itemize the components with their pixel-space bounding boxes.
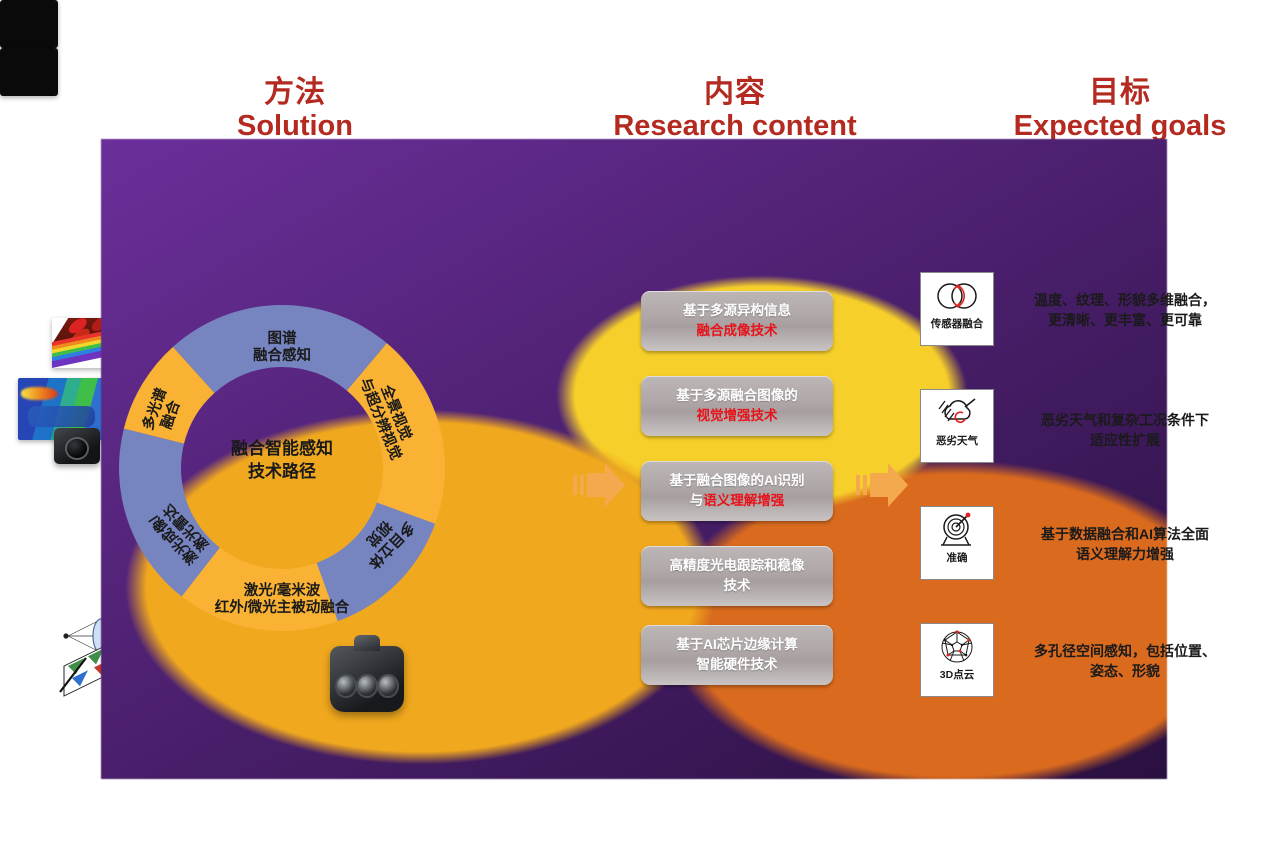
diagram-canvas: 方法 Solution 内容 Research content 目标 Expec… bbox=[0, 0, 1268, 866]
donut-center-title: 融合智能感知 技术路径 bbox=[172, 438, 392, 484]
goal-text-accuracy: 基于数据融合和AI算法全面 语义理解力增强 bbox=[1000, 524, 1250, 565]
goal-text-severe-weather: 恶劣天气和复杂工况条件下 适应性扩展 bbox=[1000, 410, 1250, 451]
research-box-ai-chip-edge-computing[interactable]: 基于AI芯片边缘计算 智能硬件技术 bbox=[641, 625, 833, 685]
gimbal-lens-2 bbox=[358, 676, 376, 696]
arrow-content-to-goals bbox=[854, 459, 910, 511]
goal-text-sensor-fusion: 温度、纹理、形貌多维融合， 更清晰、更丰富、更可靠 bbox=[1000, 290, 1250, 331]
column-header-solution: 方法 Solution bbox=[150, 76, 440, 142]
goal-text-point-cloud-3d: 多孔径空间感知，包括位置、 姿态、形貌 bbox=[1000, 641, 1250, 682]
solution-donut-chart: 图谱 融合感知 全景视觉 与超分辨视觉 多目立体 视觉 激光/毫米波 红外/微光… bbox=[117, 303, 447, 633]
column-header-content-en: Research content bbox=[580, 110, 890, 142]
donut-label-spectral-fusion-sensing: 图谱 融合感知 bbox=[202, 331, 362, 366]
camera-lens bbox=[67, 439, 87, 458]
arrow-solution-to-content bbox=[571, 459, 627, 511]
eo-gimbal-turret-thumbnail bbox=[330, 646, 404, 712]
black-thermal-camera-thumbnail bbox=[54, 428, 100, 464]
rain-cloud-icon bbox=[935, 390, 979, 436]
research-box-fusion-imaging[interactable]: 基于多源异构信息 融合成像技术 bbox=[641, 291, 833, 351]
goal-card-accuracy[interactable]: 准确 bbox=[920, 506, 994, 580]
column-header-goals: 目标 Expected goals bbox=[975, 76, 1265, 142]
research-box-tracking-stabilization[interactable]: 高精度光电跟踪和稳像 技术 bbox=[641, 546, 833, 606]
lidar-pointcloud-frame-thumbnail bbox=[0, 0, 58, 48]
thermal-city-frame-thumbnail bbox=[0, 48, 58, 96]
research-box-ai-recognition[interactable]: 基于融合图像的AI识别 与语义理解增强 bbox=[641, 461, 833, 521]
research-box-visual-enhancement[interactable]: 基于多源融合图像的 视觉增强技术 bbox=[641, 376, 833, 436]
research-box-text: 基于融合图像的AI识别 与语义理解增强 bbox=[670, 471, 805, 510]
column-header-solution-cn: 方法 bbox=[150, 76, 440, 110]
goal-card-sensor-fusion[interactable]: 传感器融合 bbox=[920, 272, 994, 346]
research-box-text: 基于多源融合图像的 视觉增强技术 bbox=[676, 386, 798, 425]
target-dart-icon bbox=[935, 507, 979, 553]
column-header-goals-en: Expected goals bbox=[975, 110, 1265, 142]
gimbal-lens-3 bbox=[379, 676, 397, 696]
goal-card-caption: 传感器融合 bbox=[931, 319, 984, 330]
research-box-text: 基于AI芯片边缘计算 智能硬件技术 bbox=[676, 635, 798, 674]
venn-circles-icon bbox=[934, 273, 980, 319]
gimbal-lens-1 bbox=[337, 676, 355, 696]
donut-label-laser-mmwave-ir-lowlight-fusion: 激光/毫米波 红外/微光主被动融合 bbox=[142, 583, 422, 618]
goal-card-caption: 3D点云 bbox=[940, 670, 974, 681]
research-box-text: 高精度光电跟踪和稳像 技术 bbox=[670, 556, 805, 595]
goal-card-severe-weather[interactable]: 恶劣天气 bbox=[920, 389, 994, 463]
point-cloud-sphere-icon bbox=[936, 624, 978, 670]
goal-card-point-cloud-3d[interactable]: 3D点云 bbox=[920, 623, 994, 697]
goal-card-caption: 恶劣天气 bbox=[936, 436, 978, 447]
column-header-goals-cn: 目标 bbox=[975, 76, 1265, 110]
research-box-text: 基于多源异构信息 融合成像技术 bbox=[683, 301, 791, 340]
goal-card-caption: 准确 bbox=[947, 553, 968, 564]
column-header-content-cn: 内容 bbox=[580, 76, 890, 110]
gimbal-mount bbox=[354, 635, 381, 651]
column-header-content: 内容 Research content bbox=[580, 76, 890, 142]
column-header-solution-en: Solution bbox=[150, 110, 440, 142]
